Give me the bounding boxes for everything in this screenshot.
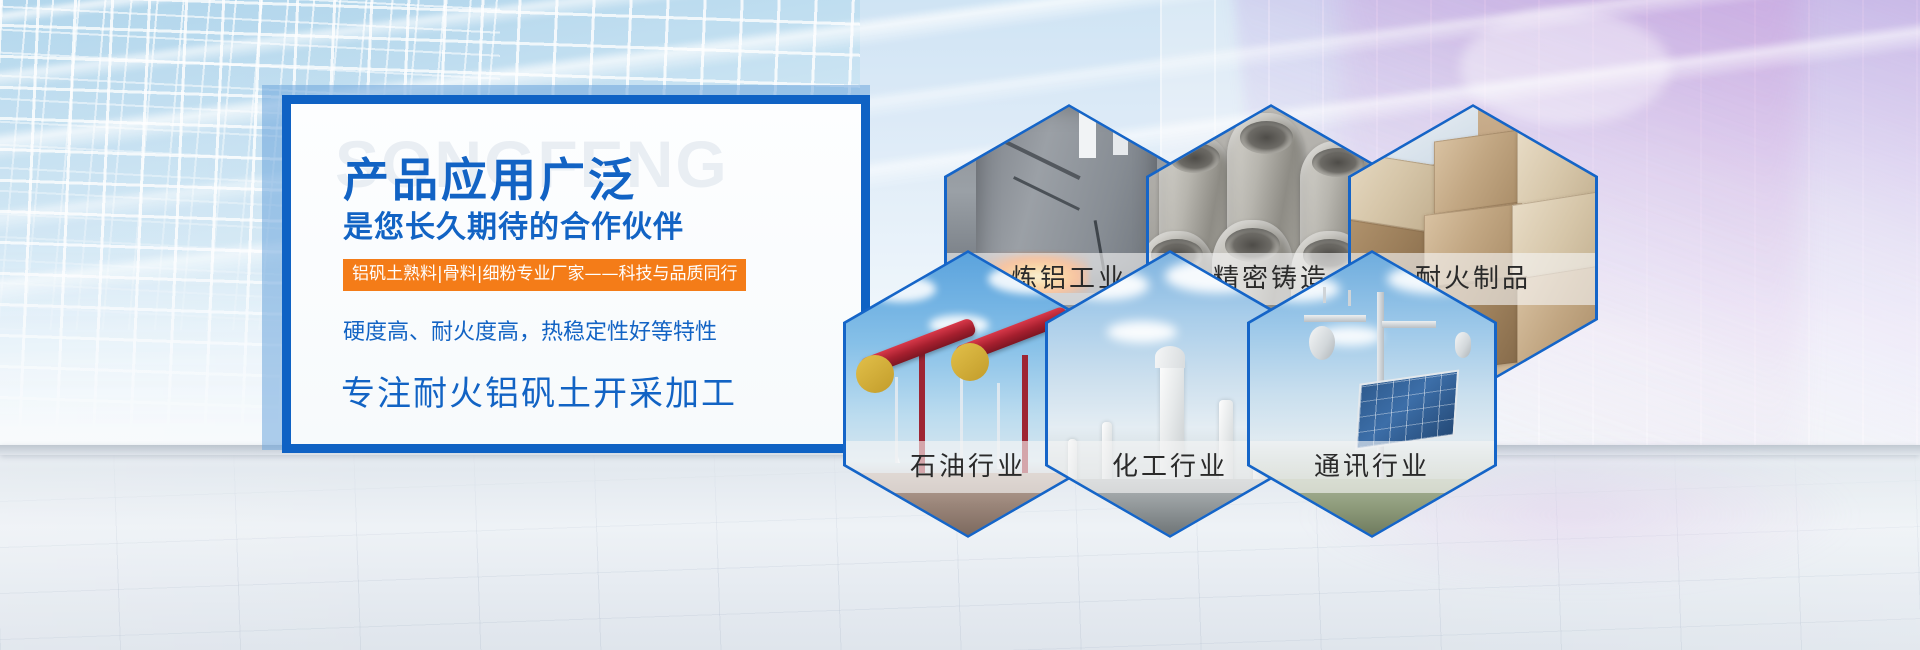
headline: 产品应用广泛 bbox=[343, 144, 637, 210]
orange-strip-badge: 铝矾土熟料|骨料|细粉专业厂家——科技与品质同行 bbox=[343, 259, 746, 291]
hexagon-label: 通讯行业 bbox=[1250, 441, 1494, 493]
subheadline: 是您长久期待的合作伙伴 bbox=[343, 202, 684, 246]
banner-stage: SONGFENG 产品应用广泛 是您长久期待的合作伙伴 铝矾土熟料|骨料|细粉专… bbox=[0, 0, 1920, 650]
feature-line: 硬度高、耐火度高，热稳定性好等特性 bbox=[343, 314, 717, 346]
tagline: 专注耐火铝矾土开采加工 bbox=[341, 366, 737, 415]
text-card: SONGFENG 产品应用广泛 是您长久期待的合作伙伴 铝矾土熟料|骨料|细粉专… bbox=[291, 104, 861, 444]
